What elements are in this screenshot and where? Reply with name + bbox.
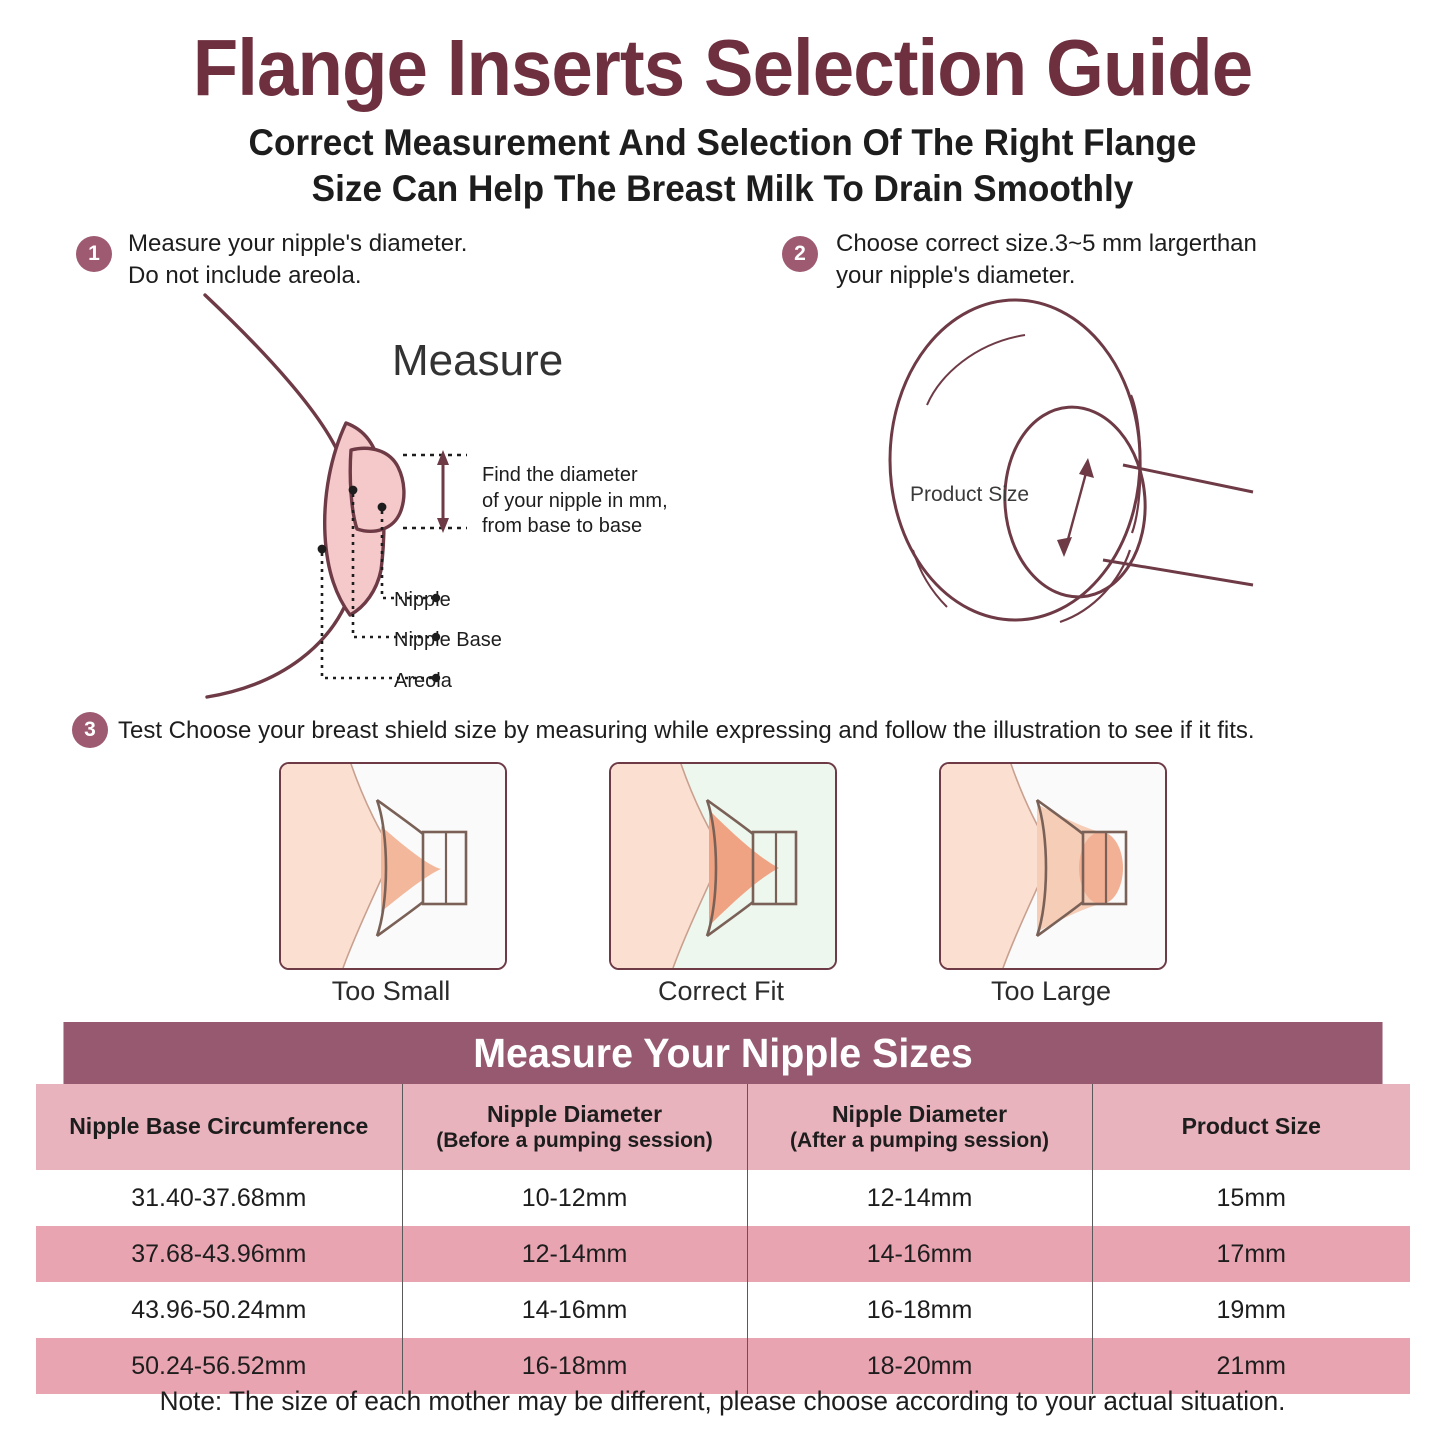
fit-caption-correct-fit: Correct Fit (609, 976, 833, 1007)
step-3-text: Test Choose your breast shield size by m… (118, 715, 1255, 747)
table-header-row: Nipple Base Circumference Nipple Diamete… (36, 1084, 1410, 1170)
fit-panel-too-small (279, 762, 507, 970)
annotation-line-2: of your nipple in mm, (482, 489, 668, 515)
page-subtitle: Correct Measurement And Selection Of The… (36, 120, 1409, 213)
column-header-main: Product Size (1182, 1113, 1321, 1139)
step-1-line-1: Measure your nipple's diameter. (128, 228, 467, 260)
cell-base-circumference: 31.40-37.68mm (36, 1170, 402, 1226)
label-areola: Areola (394, 670, 452, 693)
step-2-text: Choose correct size.3~5 mm largerthan yo… (836, 228, 1257, 293)
column-header-main: Nipple Diameter (487, 1101, 662, 1127)
diameter-arrow (437, 450, 449, 533)
fit-caption-too-small: Too Small (279, 976, 503, 1007)
cell-diameter-before: 10-12mm (402, 1170, 747, 1226)
flange-outer-ellipse (890, 300, 1140, 620)
diameter-annotation: Find the diameter of your nipple in mm, … (482, 463, 668, 540)
too-large-svg (941, 764, 1165, 968)
fit-caption-too-large: Too Large (939, 976, 1163, 1007)
flange-rim-arc-bottom-right (1060, 550, 1130, 622)
product-size-label: Product Size (910, 483, 1029, 507)
cell-diameter-after: 12-14mm (747, 1170, 1092, 1226)
measure-heading: Measure (392, 336, 563, 386)
step-badge-3: 3 (72, 712, 108, 748)
fit-panel-too-large (939, 762, 1167, 970)
annotation-line-3: from base to base (482, 514, 668, 540)
step-2-line-1: Choose correct size.3~5 mm largerthan (836, 228, 1257, 260)
nipple-size-table: Measure Your Nipple Sizes Nipple Base Ci… (36, 1022, 1410, 1394)
nipple-base-dot (349, 486, 358, 495)
cell-base-circumference: 43.96-50.24mm (36, 1282, 402, 1338)
fit-illustration-panels (0, 762, 1445, 1012)
table-row: 43.96-50.24mm 14-16mm 16-18mm 19mm (36, 1282, 1410, 1338)
areola-dot (318, 545, 327, 554)
flange-size-arrow (1057, 458, 1094, 557)
nipple-bulb-in-tunnel (1079, 832, 1123, 904)
correct-fit-svg (611, 764, 835, 968)
table-row: 31.40-37.68mm 10-12mm 12-14mm 15mm (36, 1170, 1410, 1226)
flange-highlight-top-left (927, 335, 1025, 405)
step-badge-2: 2 (782, 236, 818, 272)
column-header-main: Nipple Base Circumference (69, 1113, 368, 1139)
table-banner: Measure Your Nipple Sizes (63, 1022, 1382, 1084)
column-header-main: Nipple Diameter (832, 1101, 1007, 1127)
label-nipple: Nipple (394, 589, 451, 612)
step-2-line-2: your nipple's diameter. (836, 260, 1257, 292)
cell-diameter-after: 16-18mm (747, 1282, 1092, 1338)
column-header-sub: (Before a pumping session) (407, 1128, 743, 1153)
cell-product-size: 15mm (1092, 1170, 1410, 1226)
cell-product-size: 19mm (1092, 1282, 1410, 1338)
column-header-diameter-after: Nipple Diameter (After a pumping session… (747, 1084, 1092, 1170)
column-header-base-circumference: Nipple Base Circumference (36, 1084, 402, 1170)
nipple-shape (350, 448, 404, 531)
too-small-svg (281, 764, 505, 968)
cell-diameter-after: 14-16mm (747, 1226, 1092, 1282)
flange-diagram-svg (835, 295, 1255, 635)
table-note: Note: The size of each mother may be dif… (22, 1386, 1424, 1417)
cell-base-circumference: 37.68-43.96mm (36, 1226, 402, 1282)
cell-product-size: 17mm (1092, 1226, 1410, 1282)
step-1-text: Measure your nipple's diameter. Do not i… (128, 228, 467, 293)
label-nipple-base: Nipple Base (394, 629, 502, 652)
fit-panel-correct-fit (609, 762, 837, 970)
annotation-line-1: Find the diameter (482, 463, 668, 489)
column-header-diameter-before: Nipple Diameter (Before a pumping sessio… (402, 1084, 747, 1170)
column-header-product-size: Product Size (1092, 1084, 1410, 1170)
flange-product-diagram (835, 295, 1255, 635)
subtitle-line-1: Correct Measurement And Selection Of The… (36, 120, 1409, 166)
nipple-dot (378, 503, 387, 512)
table-row: 37.68-43.96mm 12-14mm 14-16mm 17mm (36, 1226, 1410, 1282)
step-3-line-1: Test Choose your breast shield size by m… (118, 715, 1255, 747)
step-badge-1: 1 (76, 236, 112, 272)
cell-diameter-before: 14-16mm (402, 1282, 747, 1338)
page-title: Flange Inserts Selection Guide (51, 22, 1395, 114)
size-table: Nipple Base Circumference Nipple Diamete… (36, 1084, 1410, 1394)
column-header-sub: (After a pumping session) (752, 1128, 1088, 1153)
subtitle-line-2: Size Can Help The Breast Milk To Drain S… (36, 166, 1409, 212)
cell-diameter-before: 12-14mm (402, 1226, 747, 1282)
